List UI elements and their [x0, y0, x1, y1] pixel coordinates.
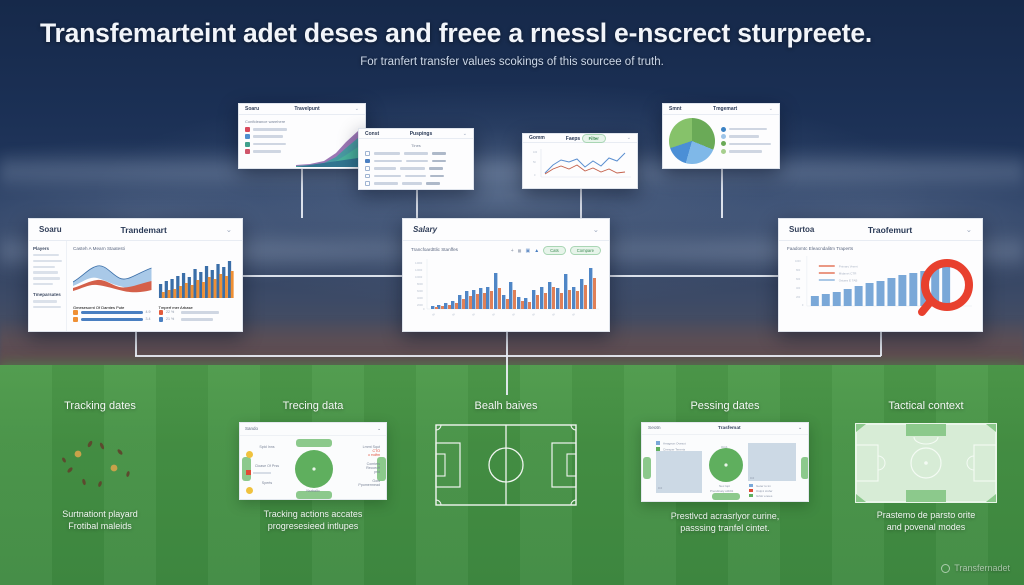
- sidebar-item[interactable]: [33, 271, 58, 273]
- watermark-text: Transfernadet: [954, 563, 1010, 573]
- progress-bar: [81, 318, 143, 321]
- connector-down-2: [506, 332, 508, 356]
- connector-mid-left: [243, 275, 402, 277]
- chevron-down-icon[interactable]: ⌄: [463, 131, 467, 137]
- card-top-ranking-table[interactable]: Const Puspings ⌄ Tines: [358, 128, 474, 190]
- legend-swatch: [245, 142, 250, 147]
- chevron-down-icon[interactable]: ⌄: [627, 135, 631, 141]
- sidebar-item[interactable]: [33, 277, 60, 279]
- grouped-bar-chart: 140001200010000 800060004000 20000 lbl l…: [411, 257, 601, 319]
- table-row[interactable]: [365, 166, 467, 171]
- chevron-down-icon[interactable]: ⌄: [355, 106, 359, 112]
- cell-name: [374, 167, 396, 170]
- cell-name: [374, 175, 401, 178]
- svg-text:200: 200: [796, 295, 801, 299]
- cell-club: [400, 167, 425, 170]
- bottom-item-title: Tracking dates: [16, 400, 184, 412]
- bottom-item-caption: Prastemo de parsto orite and povenal mod…: [838, 509, 1014, 533]
- card-toolbar[interactable]: + ▦ ▣ ▲ Cats Compare: [511, 246, 601, 255]
- card-body: Players Tmeparsates Casteh A Mearn Staat…: [29, 241, 242, 331]
- full-pitch-diagram: [435, 424, 577, 506]
- bottom-item-passing-dates: Pessing dates Seotn Trasfemat ⌄ 0.00.0 N…: [630, 400, 820, 534]
- svg-text:Ostaes E TAB: Ostaes E TAB: [839, 278, 858, 282]
- svg-text:1000: 1000: [795, 259, 801, 263]
- svg-text:600: 600: [796, 277, 801, 281]
- svg-text:0.0: 0.0: [658, 486, 663, 490]
- svg-text:Ostp1 crofer: Ostp1 crofer: [756, 489, 773, 493]
- sidebar-item[interactable]: [33, 283, 53, 285]
- progress-bar: [81, 311, 143, 314]
- svg-text:lbl: lbl: [491, 312, 496, 317]
- bottom-item-caption: Tracking actions accates progresesieed i…: [228, 508, 398, 532]
- legend-item: [245, 142, 291, 147]
- stat-list-right: Lmmt Squt CTO c rvdfm Comtets Reccecffpr…: [340, 445, 380, 487]
- cell-club: [404, 152, 428, 155]
- svg-text:10000: 10000: [415, 275, 423, 279]
- card-header: Soaru Trandemart ⌄: [29, 219, 242, 241]
- legend-label: [253, 143, 286, 146]
- bottom-item-title: Tactical context: [838, 400, 1014, 412]
- card-brand: Gomm: [529, 135, 545, 141]
- chevron-down-icon[interactable]: ⌄: [966, 225, 972, 234]
- bottom-item-caption: Prestlvcd acrasrlyor curine, passsing tr…: [630, 510, 820, 534]
- legend-item: [721, 127, 773, 132]
- cell-name: [374, 182, 398, 185]
- card-top-area-chart[interactable]: Soaru Travelpunt ⌄ Confideance warehere: [238, 103, 366, 169]
- cell-value: [432, 160, 446, 163]
- bar-chart: [158, 254, 237, 300]
- legend-swatch: [159, 310, 164, 315]
- card-brand: Surtoa: [789, 225, 814, 234]
- progress-swatch: [73, 310, 78, 315]
- connector-top-1: [301, 169, 303, 218]
- svg-text:0.0: 0.0: [750, 476, 755, 480]
- card-title: Faeps Filter: [545, 134, 627, 143]
- legend-item: [245, 149, 291, 154]
- chevron-down-icon[interactable]: ⌄: [377, 426, 381, 432]
- svg-text:lbl: lbl: [531, 312, 536, 317]
- svg-text:2000: 2000: [417, 303, 423, 307]
- svg-text:50: 50: [533, 161, 536, 164]
- legend-item: [245, 134, 291, 139]
- chevron-down-icon[interactable]: ⌄: [593, 225, 599, 234]
- svg-text:lbl: lbl: [511, 312, 516, 317]
- connector-down-3: [880, 332, 882, 356]
- card-top-trend-lines[interactable]: Gomm Faeps Filter ⌄ 100500: [522, 133, 638, 189]
- player-dots-scatter: [40, 426, 160, 504]
- card-top-pie-chart[interactable]: Smnt Tmgemart ⌄: [662, 103, 780, 169]
- cell-name: [374, 152, 400, 155]
- legend-swatch: [721, 127, 726, 132]
- legend-swatch: [721, 134, 726, 139]
- connector-top-4: [721, 169, 723, 218]
- svg-text:12000: 12000: [415, 268, 423, 272]
- card-title: Trandemart: [62, 225, 226, 235]
- legend-swatch: [245, 134, 250, 139]
- progress-swatch: [73, 317, 78, 322]
- card-brand: Salary: [413, 225, 437, 234]
- connector-baseline: [135, 355, 881, 357]
- bottom-item-caption: Surtnationt playard Frotibal maleids: [16, 508, 184, 532]
- svg-text:400: 400: [796, 286, 801, 290]
- svg-text:Orp1: Orp1: [721, 445, 728, 449]
- sidebar-heading: Players: [33, 246, 62, 251]
- svg-text:Prendinaty cdb91: Prendinaty cdb91: [710, 489, 734, 493]
- row-checkbox[interactable]: [365, 151, 370, 156]
- filter-icon[interactable]: ▦: [518, 248, 522, 253]
- cell-club: [406, 160, 428, 163]
- svg-text:Primary Vrsert: Primary Vrsert: [839, 264, 858, 268]
- legend-swatch: [245, 149, 250, 154]
- legend-swatch: [159, 317, 164, 322]
- card-header: Const Puspings ⌄: [359, 129, 473, 139]
- watermark: Transfernadet: [941, 563, 1010, 573]
- cell-value: [432, 152, 446, 155]
- table-caption: Tines: [365, 143, 467, 148]
- legend-swatch: [721, 149, 726, 154]
- bottom-item-tracing-data: Trecing data Sando ⌄ Sptd Inns Cloase Of…: [228, 400, 398, 532]
- card-title: Travelpunt: [259, 106, 355, 112]
- plus-icon[interactable]: +: [511, 248, 514, 254]
- legend-item: [721, 149, 773, 154]
- table-row[interactable]: [365, 174, 467, 179]
- connector-down-1: [135, 332, 137, 356]
- table-row[interactable]: [365, 151, 467, 156]
- legend-item: [721, 141, 773, 146]
- legend-swatch: [721, 141, 726, 146]
- connector-center-drop: [506, 355, 508, 395]
- svg-text:Nec lopt: Nec lopt: [719, 484, 730, 488]
- area-chart-graphic: [296, 127, 358, 167]
- row-checkbox[interactable]: [365, 174, 370, 179]
- progress-value: 3.4: [146, 317, 151, 321]
- grid-icon[interactable]: ▣: [525, 248, 530, 254]
- svg-text:Grlstr enoes: Grlstr enoes: [756, 494, 773, 498]
- card-brand: Seotn: [648, 426, 661, 431]
- toolbar-pill-compare[interactable]: Compare: [570, 246, 601, 255]
- card-body: [663, 115, 779, 168]
- progress-row: 4.9: [73, 310, 151, 315]
- svg-text:4000: 4000: [417, 296, 423, 300]
- passing-graphic: 0.00.0 Nec loptPrendinaty cdb91 Orp1 Arr…: [642, 439, 809, 501]
- infographic-stage: Transfemarteint adet deses and freee a r…: [0, 0, 1024, 585]
- card-brand: Smnt: [669, 106, 682, 112]
- bottom-item-tactical-context: Tactical context Prastemo de parsto o: [838, 400, 1014, 533]
- legend-item: 22 %: [159, 310, 237, 315]
- sidebar-item[interactable]: [33, 254, 59, 256]
- sidebar-heading-2: Tmeparsates: [33, 292, 62, 297]
- card-salary-bars[interactable]: Salary ⌄ Trancfoardttlic Stanffes + ▦ ▣ …: [402, 218, 610, 332]
- card-brand: Soaru: [39, 225, 62, 234]
- legend-label: [181, 311, 219, 314]
- svg-text:Ctresper Tenerts: Ctresper Tenerts: [663, 448, 686, 452]
- legend-label: [729, 143, 771, 146]
- bottom-item-tracking-dates: Tracking dates Surtnationt playard Fr: [16, 400, 184, 532]
- svg-text:6000: 6000: [417, 289, 423, 293]
- sidebar-item[interactable]: [33, 300, 57, 302]
- card-header: Seotn Trasfemat ⌄: [642, 423, 808, 435]
- row-checkbox[interactable]: [365, 166, 370, 171]
- legend-label: [181, 318, 213, 321]
- pie-chart-graphic: [669, 118, 715, 164]
- card-brand: Const: [365, 131, 379, 137]
- legend-label: [253, 135, 283, 138]
- table-row[interactable]: [365, 181, 467, 186]
- row-checkbox[interactable]: [365, 181, 370, 186]
- svg-text:lbl: lbl: [471, 312, 476, 317]
- card-main: Casteh A Mearn Staatesti: [67, 241, 242, 331]
- legend-label: [729, 135, 759, 138]
- page-subtitle: For tranfert transfer values scokings of…: [0, 56, 1024, 68]
- legend-value: 22 %: [166, 310, 178, 314]
- svg-text:14000: 14000: [415, 261, 423, 265]
- svg-text:Arrageon Ovesot: Arrageon Ovesot: [663, 442, 686, 446]
- card-header: Surtoa Traofemurt ⌄: [779, 219, 982, 241]
- tactical-pitch: [855, 423, 997, 503]
- card-title: Traofemurt: [814, 225, 965, 235]
- magnifier-donut-icon: [914, 255, 983, 325]
- card-title: Tmgemart: [682, 106, 769, 112]
- passing-data-card[interactable]: Seotn Trasfemat ⌄ 0.00.0 Nec loptPrendin…: [641, 422, 809, 502]
- legend-progress-group: Gmesesornt Of Damtes Pute 4.9 3.4: [73, 305, 151, 324]
- svg-text:Midamrt CTR: Midamrt CTR: [839, 271, 858, 275]
- progress-row: 3.4: [73, 317, 151, 322]
- cell-value: [429, 167, 443, 170]
- legend-item: 21 %: [159, 317, 237, 322]
- cell-value: [430, 175, 444, 178]
- svg-text:800: 800: [796, 268, 801, 272]
- svg-text:100: 100: [533, 151, 538, 154]
- card-title: Puspings: [379, 131, 463, 137]
- svg-text:lbl: lbl: [451, 312, 456, 317]
- card-body: Tines: [359, 139, 473, 189]
- legend-label: [253, 150, 281, 153]
- card-title: Trasfemat: [718, 426, 741, 431]
- card-brand: Soaru: [245, 106, 259, 112]
- card-body: Faadomtc Eleacndalitm Traperts 100080060…: [779, 241, 982, 331]
- progress-value: 4.9: [146, 310, 151, 314]
- sidebar-item[interactable]: [33, 260, 62, 262]
- bottom-item-title: Trecing data: [228, 400, 398, 412]
- card-overview-dashboard[interactable]: Soaru Trandemart ⌄ Players Tmeparsates C…: [28, 218, 243, 332]
- card-header: Sando ⌄: [240, 423, 386, 436]
- page-title: Transfemarteint adet deses and freee a r…: [40, 18, 984, 49]
- cell-club: [405, 175, 426, 178]
- connector-mid-right: [610, 275, 778, 277]
- bottom-item-title: Bealh baives: [426, 400, 586, 412]
- card-filter-pill[interactable]: Filter: [582, 134, 606, 143]
- legend-swatch: [245, 127, 250, 132]
- legend-item: [245, 127, 291, 132]
- svg-text:lbl: lbl: [551, 312, 556, 317]
- card-header: Soaru Travelpunt ⌄: [239, 104, 365, 115]
- cell-name: [374, 160, 402, 163]
- svg-text:Geter to tm: Geter to tm: [756, 484, 772, 488]
- legend-item: [721, 134, 773, 139]
- svg-text:0: 0: [423, 307, 425, 311]
- legend-label: [729, 150, 762, 153]
- chevron-down-icon[interactable]: ⌄: [226, 225, 232, 234]
- row-checkbox[interactable]: [365, 159, 370, 164]
- card-header: Smnt Tmgemart ⌄: [663, 104, 779, 115]
- connector-top-3: [580, 189, 582, 218]
- table-row[interactable]: [365, 159, 467, 164]
- svg-text:0: 0: [534, 174, 536, 177]
- card-header: Salary ⌄: [403, 219, 609, 241]
- card-body-title: Casteh A Mearn Staatesti: [73, 246, 236, 251]
- card-body-label: Confideance warehere: [245, 119, 359, 124]
- legend-value: 21 %: [166, 317, 178, 321]
- card-body: Trancfoardttlic Stanffes + ▦ ▣ ▲ Cats Co…: [403, 241, 609, 331]
- connector-top-2: [416, 190, 418, 218]
- cell-club: [402, 182, 422, 185]
- card-body-title: Trancfoardttlic Stanffes: [411, 247, 458, 252]
- card-body-title: Faadomtc Eleacndalitm Traperts: [787, 246, 974, 251]
- line-chart-graphic: 100500: [529, 147, 633, 185]
- pitch-caption: Nsrballo: [306, 489, 319, 493]
- card-growth-bars[interactable]: Surtoa Traofemurt ⌄ Faadomtc Eleacndalit…: [778, 218, 983, 332]
- ring-logo-icon: [941, 564, 950, 573]
- area-chart: [73, 254, 152, 300]
- legend-share-group: Tmperf mer Arbase 22 % 21 %: [159, 305, 237, 324]
- chevron-down-icon[interactable]: ⌄: [769, 106, 773, 112]
- card-header: Gomm Faeps Filter ⌄: [523, 134, 637, 143]
- sidebar-item[interactable]: [33, 306, 61, 308]
- svg-text:lbl: lbl: [431, 312, 436, 317]
- card-body: Confideance warehere: [239, 115, 365, 168]
- svg-text:lbl: lbl: [571, 312, 576, 317]
- stadium-light-band-upper: [0, 150, 1024, 192]
- sidebar-item[interactable]: [33, 266, 55, 268]
- card-brand: Sando: [245, 426, 258, 432]
- cell-value: [426, 182, 440, 185]
- stat-list-left: Sptd Inns Cloase Of Prss Sperts: [246, 445, 288, 494]
- card-body: 100500: [523, 143, 637, 188]
- svg-text:0: 0: [802, 303, 804, 307]
- legend-label: [253, 128, 287, 131]
- tracing-data-card[interactable]: Sando ⌄ Sptd Inns Cloase Of Prss Sperts: [239, 422, 387, 500]
- chevron-down-icon[interactable]: ⌄: [798, 426, 802, 431]
- download-icon[interactable]: ▲: [534, 248, 539, 254]
- bottom-item-bealh-baives: Bealh baives: [426, 400, 586, 512]
- legend-label: [729, 128, 767, 131]
- bottom-item-title: Pessing dates: [630, 400, 820, 412]
- svg-text:8000: 8000: [417, 282, 423, 286]
- card-sidebar[interactable]: Players Tmeparsates: [29, 241, 67, 331]
- toolbar-pill-cats[interactable]: Cats: [543, 246, 566, 255]
